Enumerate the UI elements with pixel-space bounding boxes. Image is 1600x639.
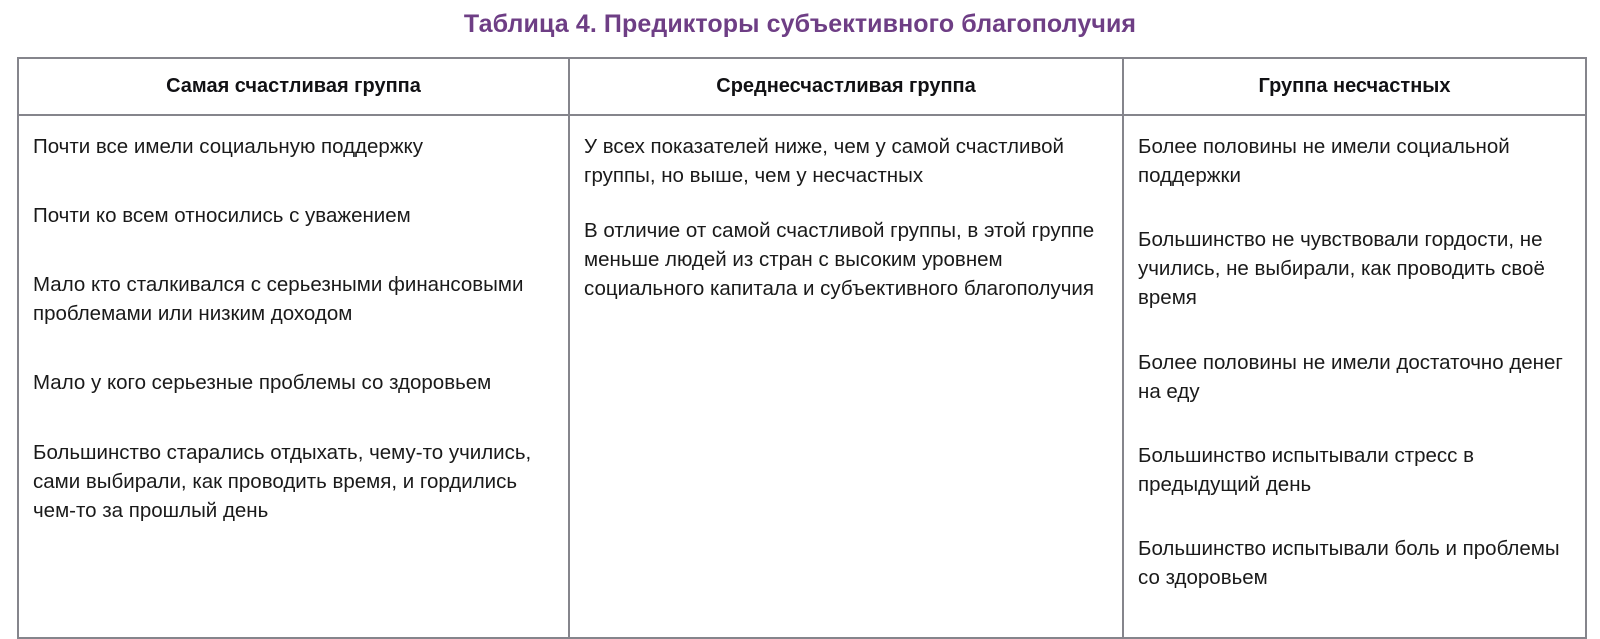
table-body: Почти все имели социальную поддержку Поч… (18, 115, 1586, 638)
table-header-row: Самая счастливая группа Среднесчастливая… (18, 58, 1586, 115)
list-item: Почти все имели социальную поддержку (33, 132, 554, 161)
list-item: У всех показателей ниже, чем у самой сча… (584, 132, 1108, 190)
list-item: Большинство старались отдыхать, чему-то … (33, 438, 554, 525)
list-item: Большинство испытывали стресс в предыдущ… (1138, 441, 1571, 499)
list-item: Большинство испытывали боль и проблемы с… (1138, 534, 1571, 592)
table-page: Таблица 4. Предикторы субъективного благ… (0, 0, 1600, 630)
table-row: Почти все имели социальную поддержку Поч… (18, 115, 1586, 638)
column-header-middle: Среднесчастливая группа (569, 58, 1123, 115)
list-item: Более половины не имели социальной подде… (1138, 132, 1571, 190)
column-header-unhappy: Группа несчастных (1123, 58, 1586, 115)
list-item: Мало у кого серьезные проблемы со здоров… (33, 368, 554, 397)
predictors-table: Самая счастливая группа Среднесчастливая… (17, 57, 1587, 639)
list-item: Более половины не имели достаточно денег… (1138, 348, 1571, 406)
table-header-row-group: Самая счастливая группа Среднесчастливая… (18, 58, 1586, 115)
list-item: Мало кто сталкивался с серьезными финанс… (33, 270, 554, 328)
table-container: Самая счастливая группа Среднесчастливая… (17, 57, 1585, 594)
list-item: Большинство не чувствовали гордости, не … (1138, 225, 1571, 312)
list-item: В отличие от самой счастливой группы, в … (584, 216, 1108, 303)
page-title: Таблица 4. Предикторы субъективного благ… (0, 9, 1600, 39)
cell-happiest: Почти все имели социальную поддержку Поч… (18, 115, 569, 638)
column-header-happiest: Самая счастливая группа (18, 58, 569, 115)
list-item: Почти ко всем относились с уважением (33, 201, 554, 230)
cell-unhappy: Более половины не имели социальной подде… (1123, 115, 1586, 638)
cell-middle: У всех показателей ниже, чем у самой сча… (569, 115, 1123, 638)
